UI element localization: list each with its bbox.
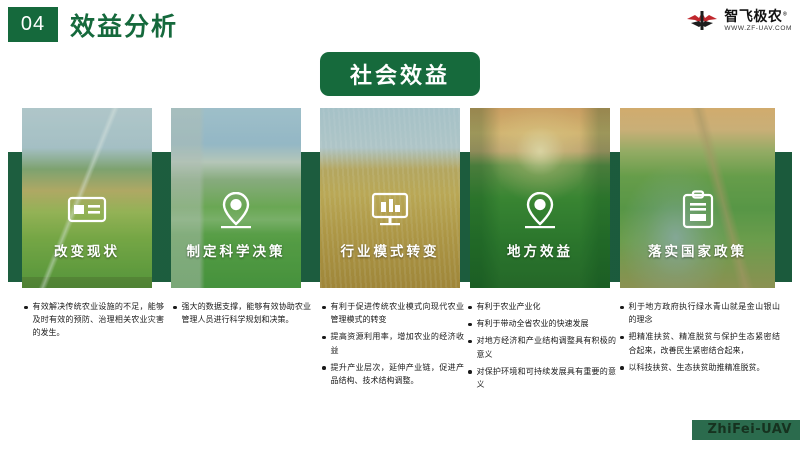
bullet-dot-icon: [24, 306, 28, 310]
benefit-card-title: 行业模式转变: [320, 240, 460, 260]
list-item: 提高资源利用率，增加农业的经济收益: [322, 330, 464, 356]
location-pin-icon: [517, 186, 563, 232]
bullet-dot-icon: [620, 366, 624, 370]
bullet-dot-icon: [173, 306, 177, 310]
bullet-dot-icon: [322, 306, 326, 310]
list-item: 有利于农业产业化: [468, 300, 616, 313]
benefit-card-2[interactable]: 制定科学决策: [171, 108, 301, 288]
section-number-badge: 04: [8, 7, 58, 42]
bullet-text: 对地方经济和产业结构调整具有积极的意义: [477, 334, 617, 360]
bullet-column-4: 有利于农业产业化 有利于带动全省农业的快速发展 对地方经济和产业结构调整具有积极…: [468, 300, 616, 395]
list-item: 有效解决传统农业设施的不足，能够及时有效的预防、治理相关农业灾害的发生。: [24, 300, 164, 340]
slide-header: 04 效益分析 智飞极农® WWW.ZF-UAV.COM: [0, 0, 800, 48]
brand-logo: 智飞极农® WWW.ZF-UAV.COM: [685, 8, 792, 34]
page-title: 效益分析: [70, 7, 178, 42]
list-item: 利于地方政府执行绿水青山就是金山银山的理念: [620, 300, 780, 326]
eagle-emblem-icon: [685, 8, 719, 34]
bullet-text: 强大的数据支撑，能够有效协助农业管理人员进行科学规划和决策。: [182, 300, 312, 326]
bullet-dot-icon: [620, 336, 624, 340]
list-item: 以科技扶贫、生态扶贫助推精准脱贫。: [620, 361, 780, 374]
benefit-card-title: 地方效益: [470, 240, 610, 260]
list-item: 有利于带动全省农业的快速发展: [468, 317, 616, 330]
bullet-column-1: 有效解决传统农业设施的不足，能够及时有效的预防、治理相关农业灾害的发生。: [24, 300, 164, 344]
bullet-column-5: 利于地方政府执行绿水青山就是金山银山的理念 把精准扶贫、精准脱贫与保护生态紧密结…: [620, 300, 780, 378]
clipboard-icon: [675, 186, 721, 232]
bullet-text: 提升产业层次，延伸产业链，促进产品结构、技术结构调整。: [331, 361, 465, 387]
list-item: 对保护环境和可持续发展具有重要的意义: [468, 365, 616, 391]
bullet-dot-icon: [468, 340, 472, 344]
bullet-dot-icon: [468, 370, 472, 374]
benefit-card-5[interactable]: 落实国家政策: [620, 108, 775, 288]
benefit-card-1[interactable]: 改变现状: [22, 108, 152, 288]
bullet-text: 有效解决传统农业设施的不足，能够及时有效的预防、治理相关农业灾害的发生。: [33, 300, 165, 340]
bullet-dot-icon: [620, 306, 624, 310]
bullet-dot-icon: [468, 323, 472, 327]
benefit-card-3[interactable]: 行业模式转变: [320, 108, 460, 288]
bullet-dot-icon: [322, 336, 326, 340]
monitor-chart-icon: [367, 186, 413, 232]
bullet-dot-icon: [322, 366, 326, 370]
bullet-text: 有利于农业产业化: [477, 300, 541, 313]
benefit-card-title: 制定科学决策: [171, 240, 301, 260]
footer-watermark: ZhiFei-UAV: [707, 422, 792, 437]
list-item: 强大的数据支撑，能够有效协助农业管理人员进行科学规划和决策。: [173, 300, 311, 326]
bullet-text: 以科技扶贫、生态扶贫助推精准脱贫。: [629, 361, 765, 374]
bullet-text: 有利于促进传统农业模式向现代农业管理模式的转变: [331, 300, 465, 326]
logo-registered-mark: ®: [782, 11, 788, 17]
bullet-text: 提高资源利用率，增加农业的经济收益: [331, 330, 465, 356]
section-banner: 社会效益: [320, 52, 480, 96]
location-pin-icon: [213, 186, 259, 232]
list-item: 对地方经济和产业结构调整具有积极的意义: [468, 334, 616, 360]
benefit-card-4[interactable]: 地方效益: [470, 108, 610, 288]
bullet-column-2: 强大的数据支撑，能够有效协助农业管理人员进行科学规划和决策。: [173, 300, 311, 330]
list-item: 提升产业层次，延伸产业链，促进产品结构、技术结构调整。: [322, 361, 464, 387]
benefit-card-title: 改变现状: [22, 240, 152, 260]
bullet-column-3: 有利于促进传统农业模式向现代农业管理模式的转变 提高资源利用率，增加农业的经济收…: [322, 300, 464, 391]
bullet-text: 利于地方政府执行绿水青山就是金山银山的理念: [629, 300, 781, 326]
logo-url: WWW.ZF-UAV.COM: [724, 26, 792, 33]
list-item: 有利于促进传统农业模式向现代农业管理模式的转变: [322, 300, 464, 326]
bullet-text: 把精准扶贫、精准脱贫与保护生态紧密结合起来，改善民生紧密结合起来，: [629, 330, 781, 356]
id-card-icon: [64, 186, 110, 232]
bullet-text: 有利于带动全省农业的快速发展: [477, 317, 589, 330]
logo-brand-name: 智飞极农: [724, 9, 782, 25]
benefit-card-title: 落实国家政策: [620, 240, 775, 260]
list-item: 把精准扶贫、精准脱贫与保护生态紧密结合起来，改善民生紧密结合起来，: [620, 330, 780, 356]
bullet-text: 对保护环境和可持续发展具有重要的意义: [477, 365, 617, 391]
bullet-dot-icon: [468, 306, 472, 310]
